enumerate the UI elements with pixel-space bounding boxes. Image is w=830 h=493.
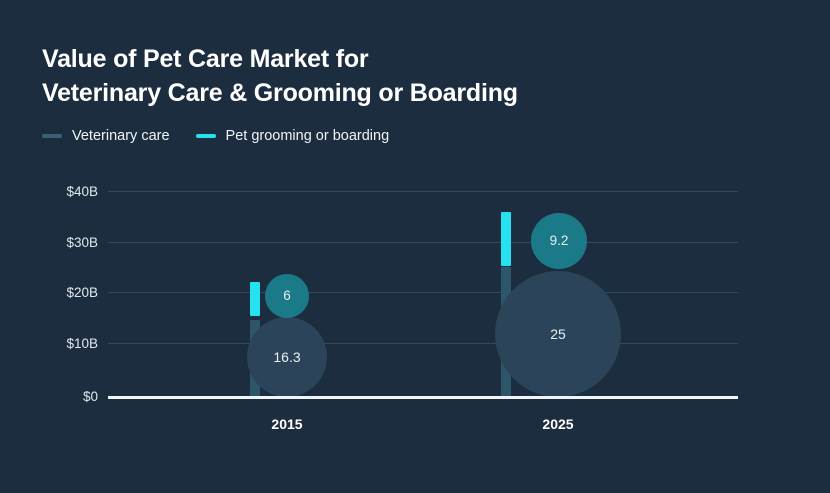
gridline-30	[108, 242, 738, 243]
bar-pet-grooming-2015[interactable]	[250, 282, 260, 316]
bubble-veterinary-care-2015[interactable]: 16.3	[247, 317, 327, 397]
y-axis-tick-label-30: $30B	[18, 235, 98, 250]
gridline-20	[108, 292, 738, 293]
bubble-value-veterinary-care-2015: 16.3	[273, 350, 300, 364]
y-axis-tick-label-10: $10B	[18, 336, 98, 351]
x-axis-tick-label-2025: 2025	[498, 416, 618, 432]
y-axis-tick-label-40: $40B	[18, 184, 98, 199]
bubble-value-pet-grooming-2025: 9.2	[550, 234, 569, 248]
gridline-10	[108, 343, 738, 344]
bubble-value-pet-grooming-2015: 6	[283, 289, 291, 303]
x-axis-tick-label-2015: 2015	[227, 416, 347, 432]
gridline-40	[108, 191, 738, 192]
plot-area: $40B $30B $20B $10B $0 16.3 6 25 9.2 201…	[0, 0, 830, 493]
bubble-value-veterinary-care-2025: 25	[550, 327, 566, 341]
chart-card: Value of Pet Care Market for Veterinary …	[0, 0, 830, 493]
bar-pet-grooming-2025[interactable]	[501, 212, 511, 266]
y-axis-tick-label-20: $20B	[18, 285, 98, 300]
x-axis-baseline	[108, 396, 738, 399]
bubble-pet-grooming-2015[interactable]: 6	[265, 274, 309, 318]
bubble-veterinary-care-2025[interactable]: 25	[495, 271, 621, 397]
y-axis-tick-label-0: $0	[18, 389, 98, 404]
bubble-pet-grooming-2025[interactable]: 9.2	[531, 213, 587, 269]
